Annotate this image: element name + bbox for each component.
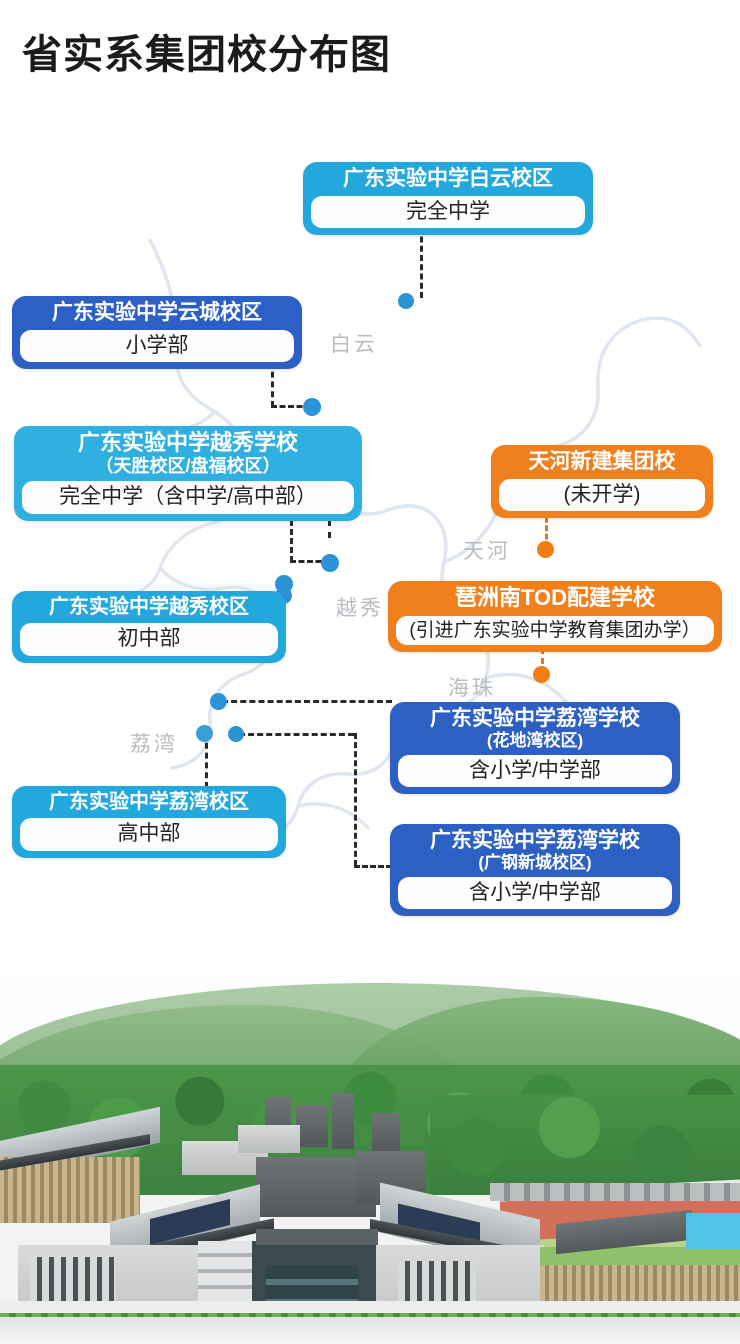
leader-line-yuexiu-school-a (290, 520, 293, 562)
map-marker-yuexiu-school[interactable] (321, 554, 339, 572)
callout-yuexiu-campus-body: 初中部 (20, 623, 278, 655)
callout-pazhou[interactable]: 琶洲南TOD配建学校 (引进广东实验中学教育集团办学） (388, 581, 722, 652)
callout-liwan-guangang[interactable]: 广东实验中学荔湾学校 (广钢新城校区) 含小学/中学部 (390, 824, 680, 916)
callout-yuncheng[interactable]: 广东实验中学云城校区 小学部 (12, 296, 302, 369)
callout-liwan-huadiwan-subtitle: (花地湾校区) (398, 732, 672, 751)
callout-yuexiu-school-body: 完全中学（含中学/高中部） (22, 481, 354, 513)
map-marker-baiyun[interactable] (398, 293, 414, 309)
callout-yuexiu-school-subtitle: （天胜校区/盘福校区） (22, 457, 354, 477)
callout-tianhe-body: (未开学) (499, 479, 705, 511)
district-label-liwan: 荔湾 (130, 728, 178, 758)
map-marker-liwan-guangang[interactable] (228, 726, 244, 742)
photo-distant-block-2 (238, 1125, 300, 1153)
campus-aerial-photo (0, 945, 740, 1344)
callout-yuncheng-body: 小学部 (20, 330, 294, 362)
district-label-haizhu: 海珠 (448, 672, 496, 702)
callout-yuexiu-school[interactable]: 广东实验中学越秀学校 （天胜校区/盘福校区） 完全中学（含中学/高中部） (14, 426, 362, 521)
callout-pazhou-title: 琶洲南TOD配建学校 (396, 586, 714, 611)
callout-liwan-campus[interactable]: 广东实验中学荔湾校区 高中部 (12, 786, 286, 858)
callout-baiyun-title: 广东实验中学白云校区 (311, 167, 585, 191)
map-marker-yuncheng[interactable] (303, 398, 321, 416)
photo-distant-tower-4 (372, 1113, 400, 1153)
photo-distant-tower-3 (332, 1093, 354, 1149)
map-canvas: 白云 天河 越秀 海珠 荔湾 广东实验中学白云校区 完全中学 广东实验中学云城校… (0, 100, 740, 945)
photo-sky-bridge (256, 1229, 378, 1245)
district-label-baiyun: 白云 (330, 328, 378, 358)
callout-yuexiu-school-title: 广东实验中学越秀学校 (22, 431, 354, 456)
callout-liwan-campus-body: 高中部 (20, 818, 278, 850)
photo-left-louver (0, 1157, 140, 1223)
district-label-yuexiu: 越秀 (336, 592, 384, 622)
leader-line-liwan-guangang-b (354, 733, 357, 866)
map-marker-pazhou[interactable] (533, 666, 550, 683)
district-label-tianhe: 天河 (463, 535, 511, 565)
callout-liwan-guangang-body: 含小学/中学部 (398, 877, 672, 909)
photo-distant-tower-2 (296, 1105, 328, 1147)
leader-line-yuexiu-school-c (328, 520, 331, 538)
map-marker-liwan-campus[interactable] (196, 725, 213, 742)
leader-line-liwan-huadiwan (222, 700, 392, 703)
callout-pazhou-body: (引进广东实验中学教育集团办学） (396, 616, 714, 646)
photo-pool (686, 1213, 740, 1249)
callout-yuexiu-campus-title: 广东实验中学越秀校区 (20, 596, 278, 618)
callout-liwan-huadiwan-body: 含小学/中学部 (398, 755, 672, 787)
callout-liwan-campus-title: 广东实验中学荔湾校区 (20, 791, 278, 813)
callout-yuexiu-campus[interactable]: 广东实验中学越秀校区 初中部 (12, 591, 286, 663)
callout-liwan-huadiwan[interactable]: 广东实验中学荔湾学校 (花地湾校区) 含小学/中学部 (390, 702, 680, 794)
photo-bleachers (490, 1183, 740, 1201)
callout-tianhe[interactable]: 天河新建集团校 (未开学) (491, 445, 713, 518)
map-marker-tianhe[interactable] (537, 541, 554, 558)
callout-liwan-guangang-subtitle: (广钢新城校区) (398, 854, 672, 873)
page-title: 省实系集团校分布图 (22, 22, 391, 80)
leader-line-liwan-guangang-a (239, 733, 354, 736)
leader-line-liwan-guangang-c (354, 865, 392, 868)
callout-baiyun-body: 完全中学 (311, 196, 585, 228)
callout-yuncheng-title: 广东实验中学云城校区 (20, 301, 294, 325)
callout-baiyun[interactable]: 广东实验中学白云校区 完全中学 (303, 162, 593, 235)
callout-liwan-huadiwan-title: 广东实验中学荔湾学校 (398, 707, 672, 731)
callout-tianhe-title: 天河新建集团校 (499, 450, 705, 474)
photo-foreground-path (0, 1317, 740, 1344)
map-marker-liwan-huadiwan[interactable] (210, 693, 227, 710)
callout-liwan-guangang-title: 广东实验中学荔湾学校 (398, 829, 672, 853)
